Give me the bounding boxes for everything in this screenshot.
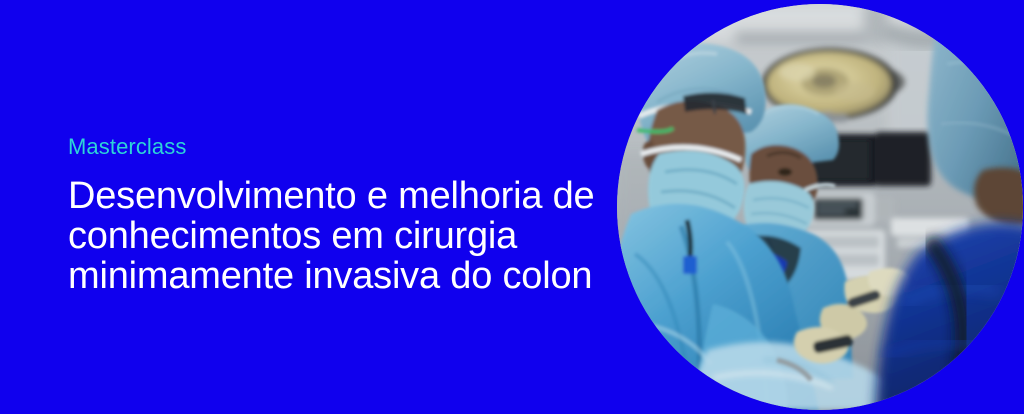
eyebrow-label: Masterclass bbox=[68, 132, 608, 162]
operating-room-illustration bbox=[617, 4, 1023, 410]
page-title: Desenvolvimento e melhoria de conhecimen… bbox=[68, 176, 608, 296]
headline-line-2: conhecimentos em cirurgia bbox=[68, 216, 608, 256]
banner-text-block: Masterclass Desenvolvimento e melhoria d… bbox=[68, 132, 608, 296]
surgery-photo-circle bbox=[617, 4, 1023, 410]
surgery-photo bbox=[617, 4, 1023, 410]
headline-line-3: minimamente invasiva do colon bbox=[68, 256, 608, 296]
masterclass-banner: Masterclass Desenvolvimento e melhoria d… bbox=[0, 0, 1024, 414]
headline-line-1: Desenvolvimento e melhoria de bbox=[68, 176, 608, 216]
